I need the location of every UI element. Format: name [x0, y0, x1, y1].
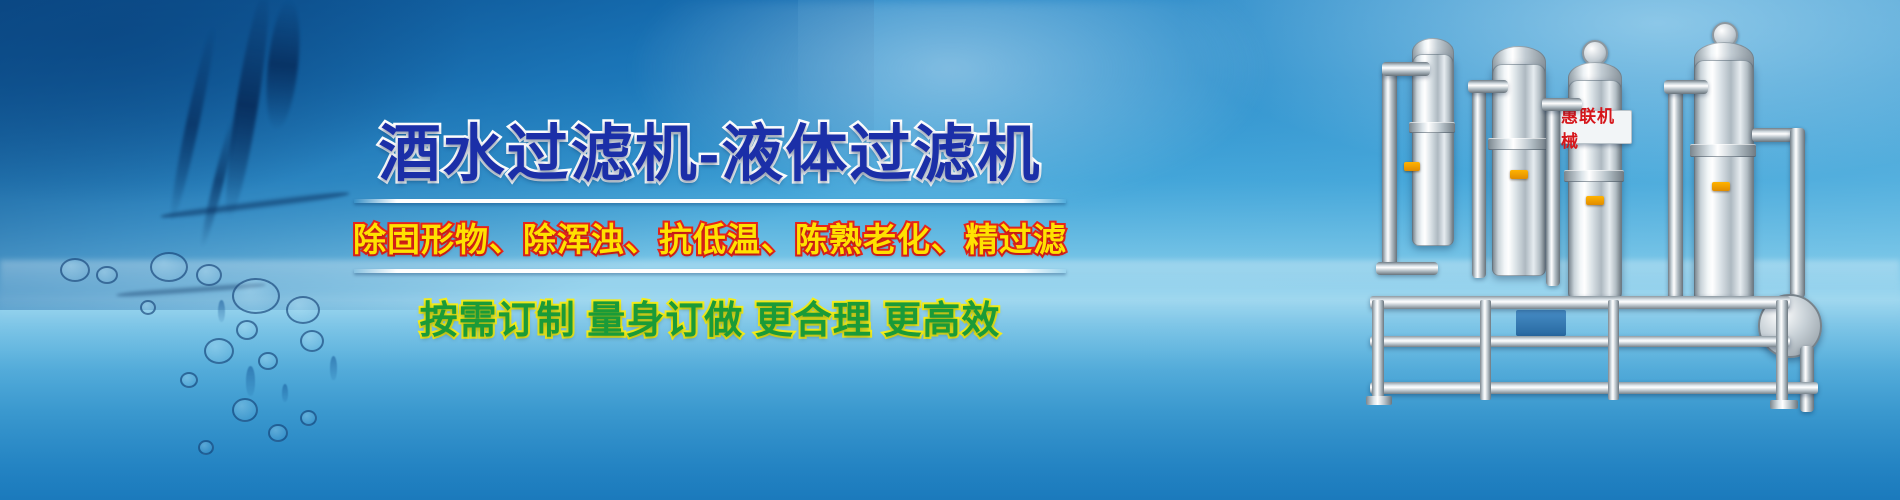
valve-handle [1404, 162, 1420, 171]
horizontal-pipe [1664, 80, 1708, 94]
water-bubble [232, 398, 258, 422]
banner-text-block: 酒水过滤机-液体过滤机 除固形物、除浑浊、抗低温、陈熟老化、精过滤 按需订制 量… [330, 120, 1090, 344]
valve-handle [1510, 170, 1528, 179]
frame-leg [1776, 300, 1788, 404]
water-bubble [196, 264, 222, 286]
vertical-pipe [1382, 70, 1397, 270]
vessel-band [1488, 138, 1548, 150]
valve-handle [1586, 196, 1604, 205]
water-drip [218, 300, 225, 322]
tagline: 按需订制 量身订做 更合理 更高效 [330, 289, 1090, 344]
water-drip [282, 384, 288, 402]
valve-handle [1712, 182, 1730, 191]
horizontal-pipe [1542, 98, 1582, 111]
water-bubble [236, 320, 258, 340]
water-bubble [286, 296, 320, 324]
control-panel [1516, 310, 1566, 336]
horizontal-pipe [1376, 262, 1438, 275]
title-divider-top [354, 199, 1066, 203]
vessel-band [1409, 122, 1455, 133]
frame-leg [1608, 300, 1619, 400]
horizontal-pipe [1468, 80, 1508, 93]
water-bubble [198, 440, 214, 455]
filter-machine-photo: 惠联机械 [1360, 10, 1880, 490]
frame-foot [1366, 396, 1392, 405]
page-title: 酒水过滤机-液体过滤机 [330, 120, 1090, 189]
water-drip [330, 356, 337, 380]
vessel-band [1690, 144, 1756, 157]
vertical-pipe [1546, 106, 1560, 286]
frame-rail [1370, 382, 1818, 394]
filter-vessel [1694, 60, 1754, 302]
frame-rail [1370, 296, 1790, 309]
water-bubble [300, 410, 317, 426]
water-bubble [258, 352, 278, 370]
filter-vessel [1412, 54, 1454, 246]
water-bubble [268, 424, 288, 442]
frame-leg [1480, 300, 1491, 400]
water-bubble [232, 278, 280, 314]
frame-foot [1770, 400, 1798, 409]
water-bubble [180, 372, 198, 388]
water-bubble [96, 266, 118, 284]
water-drip [246, 366, 255, 396]
water-bubble [150, 252, 188, 282]
vertical-pipe [1472, 88, 1486, 278]
outlet-pipe [1790, 128, 1805, 298]
water-bubble [60, 258, 90, 282]
horizontal-pipe [1382, 62, 1430, 76]
frame-rail [1370, 336, 1790, 347]
title-divider-bottom [354, 269, 1066, 273]
water-bubble [204, 338, 234, 364]
feature-list: 除固形物、除浑浊、抗低温、陈熟老化、精过滤 [330, 213, 1090, 261]
vessel-band [1564, 170, 1624, 182]
water-bubble [140, 300, 156, 315]
water-bubble [300, 330, 324, 352]
brand-sign: 惠联机械 [1560, 110, 1632, 144]
frame-leg [1372, 300, 1384, 404]
vertical-pipe [1668, 88, 1683, 303]
pump-outlet-pipe [1800, 346, 1814, 412]
promo-banner: 酒水过滤机-液体过滤机 除固形物、除浑浊、抗低温、陈熟老化、精过滤 按需订制 量… [0, 0, 1900, 500]
